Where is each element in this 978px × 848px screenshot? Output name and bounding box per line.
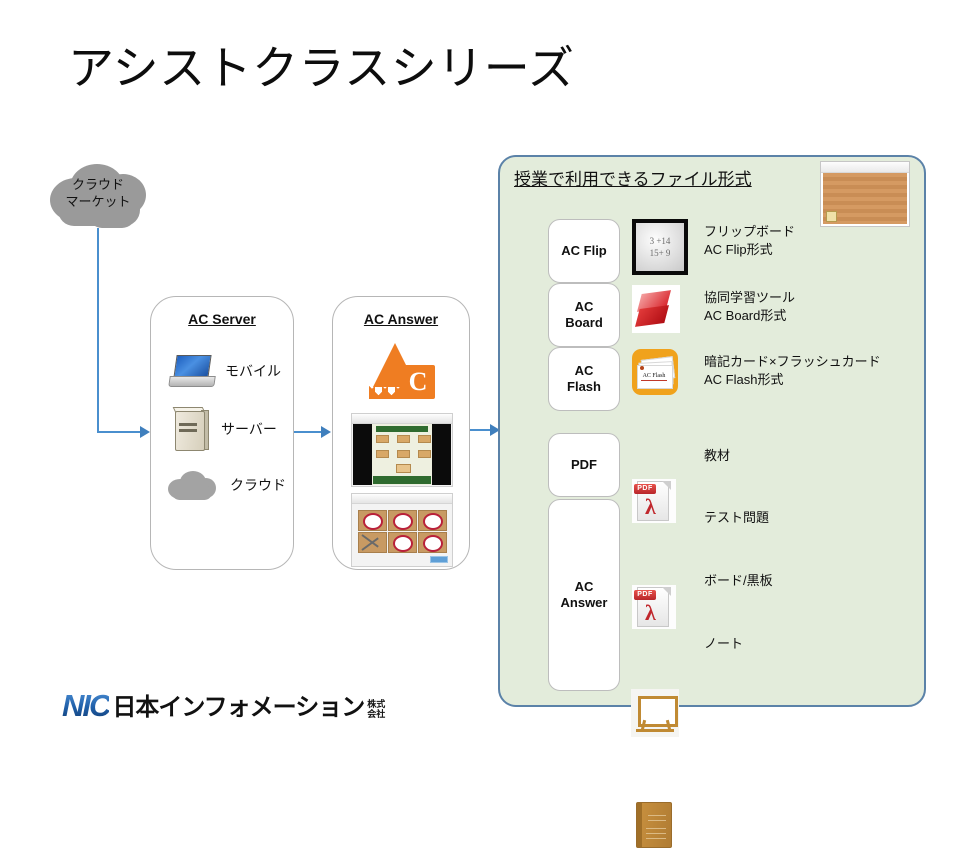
format-desc-line1: テスト問題 [704, 509, 769, 527]
format-desc-line2: AC Board形式 [704, 307, 795, 325]
format-box-line2: Board [565, 315, 603, 331]
format-box-line1: AC [561, 579, 608, 595]
connector-cloud-horizontal [97, 431, 141, 433]
cloud-market-label-line2: マーケット [44, 193, 152, 210]
ac-server-item-label: モバイル [225, 361, 281, 381]
ac-answer-logo-letter: C [401, 365, 435, 399]
ac-server-panel[interactable]: AC Server モバイル サーバー クラウド [150, 296, 294, 570]
pdf-icon: λ PDF [632, 479, 676, 523]
format-box-ac-board[interactable]: AC Board [548, 283, 620, 347]
classroom-seating-screenshot[interactable] [351, 413, 453, 487]
connector-server-answer-arrowhead [321, 426, 331, 438]
company-name: 日本インフォメーション [112, 695, 364, 721]
laptop-icon [169, 355, 213, 387]
ac-server-item-label: サーバー [221, 419, 277, 439]
company-suffix: 株式 会社 [367, 699, 385, 719]
format-desc-line1: ノート [704, 635, 743, 653]
format-desc-line1: 暗記カード×フラッシュカード [704, 353, 881, 371]
connector-cloud-vertical [97, 228, 99, 432]
ac-server-item-mobile[interactable]: モバイル [169, 355, 281, 387]
page-title: アシストクラスシリーズ [68, 42, 574, 95]
ac-server-item-label: クラウド [230, 475, 286, 495]
format-box-line2: Flash [567, 379, 601, 395]
cloud-market-node: クラウド マーケット [44, 160, 152, 234]
format-box-ac-flip[interactable]: AC Flip [548, 219, 620, 283]
nic-logo-mark: NIC [62, 690, 109, 721]
format-box-line1: AC [567, 363, 601, 379]
pdf-icon-label: PDF [634, 484, 656, 494]
pdf-icon-label: PDF [634, 590, 656, 600]
wood-texture-window-thumbnail[interactable] [820, 161, 910, 227]
whiteboard-icon [631, 689, 679, 737]
format-box-line2: Answer [561, 595, 608, 611]
connector-cloud-arrowhead [140, 426, 150, 438]
ac-answer-heading: AC Answer [333, 311, 469, 327]
format-desc-line1: 教材 [704, 447, 730, 465]
format-box-ac-answer[interactable]: AC Answer [548, 499, 620, 691]
flip-board-icon: 3 +14 15+ 9 [632, 219, 688, 275]
ac-flash-icon: AC Flash [632, 349, 678, 395]
ac-server-item-cloud[interactable]: クラウド [166, 469, 286, 501]
company-suffix-line2: 会社 [367, 709, 385, 719]
format-desc-line2: AC Flash形式 [704, 371, 881, 389]
format-desc-line1: 協同学習ツール [704, 289, 795, 307]
server-icon [171, 407, 209, 451]
file-formats-panel: 授業で利用できるファイル形式 AC Flip 3 +14 15+ 9 フリップボ… [498, 155, 926, 707]
ac-answer-panel[interactable]: AC Answer C [332, 296, 470, 570]
footer-logo: NIC 日本インフォメーション 株式 会社 [62, 690, 385, 721]
ac-flash-icon-label: AC Flash [637, 373, 671, 379]
flip-icon-line1: 3 +14 [650, 235, 671, 247]
format-desc-pdf: 教材 [704, 447, 730, 465]
cloud-market-label-line1: クラウド [44, 176, 152, 193]
format-box-ac-flash[interactable]: AC Flash [548, 347, 620, 411]
ac-board-icon [632, 285, 680, 333]
format-box-line1: AC [565, 299, 603, 315]
pdf-icon: λ PDF [632, 585, 676, 629]
connector-server-answer-line [293, 431, 323, 433]
company-suffix-line1: 株式 [367, 699, 385, 709]
format-desc-line1: ボード/黒板 [704, 572, 773, 590]
format-desc-ac-flip: フリップボード AC Flip形式 [704, 223, 795, 259]
format-desc-note: ノート [704, 635, 743, 653]
ac-answer-logo-icon: C [367, 343, 437, 405]
format-desc-ac-board: 協同学習ツール AC Board形式 [704, 289, 795, 325]
format-desc-test: テスト問題 [704, 509, 769, 527]
cloud-market-label: クラウド マーケット [44, 176, 152, 210]
notebook-icon [636, 802, 672, 848]
format-desc-ac-flash: 暗記カード×フラッシュカード AC Flash形式 [704, 353, 881, 389]
format-box-pdf[interactable]: PDF [548, 433, 620, 497]
format-desc-line1: フリップボード [704, 223, 795, 241]
format-desc-board: ボード/黒板 [704, 572, 773, 590]
file-formats-title: 授業で利用できるファイル形式 [514, 165, 752, 190]
ac-server-item-server[interactable]: サーバー [171, 407, 277, 451]
answer-cards-grid-screenshot[interactable] [351, 493, 453, 567]
format-desc-line2: AC Flip形式 [704, 241, 795, 259]
ac-server-heading: AC Server [151, 311, 293, 327]
cloud-icon [166, 469, 218, 501]
flip-icon-line2: 15+ 9 [650, 247, 671, 259]
